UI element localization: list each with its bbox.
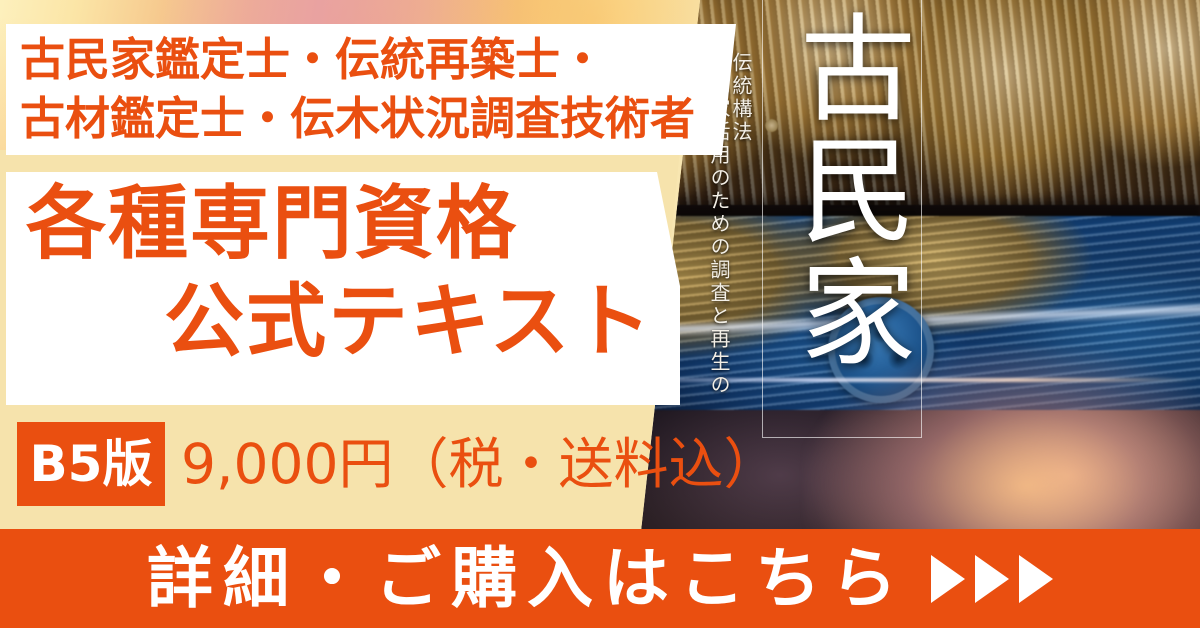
book-cover-title: 古民家 — [766, 8, 918, 374]
chevron-right-icon — [975, 555, 1009, 603]
format-badge: B5版 — [17, 422, 165, 506]
book-cover-subtext-line1: 伝統構法 — [730, 52, 752, 397]
headline-line-2: 公式テキスト — [164, 282, 654, 362]
price-row: B5版 9,000円（税・送料込） — [17, 422, 778, 506]
qualifications-line-2: 古材鑑定士・伝木状況調査技術者 — [20, 89, 695, 148]
headline-line-1: 各種専門資格 — [26, 184, 518, 264]
qualifications-card: 古民家鑑定士・伝統再築士・ 古材鑑定士・伝木状況調査技術者 — [6, 24, 736, 155]
headline-card: 各種専門資格 公式テキスト — [6, 172, 680, 405]
cta-label: 詳細・ご購入はこちら — [147, 546, 907, 612]
cta-arrow-group — [931, 555, 1053, 603]
chevron-right-icon — [1019, 555, 1053, 603]
promo-banner: 伝統構法 古民家活用のための調査と再生の 古民家 古民家鑑定士・伝統再築士・ 古… — [0, 0, 1200, 628]
qualifications-text: 古民家鑑定士・伝統再築士・ 古材鑑定士・伝木状況調査技術者 — [20, 30, 695, 149]
qualifications-line-1: 古民家鑑定士・伝統再築士・ — [20, 30, 695, 89]
price-amount: 9,000円（税・送料込） — [181, 437, 778, 492]
chevron-right-icon — [931, 555, 965, 603]
cta-bar[interactable]: 詳細・ご購入はこちら — [0, 529, 1200, 628]
